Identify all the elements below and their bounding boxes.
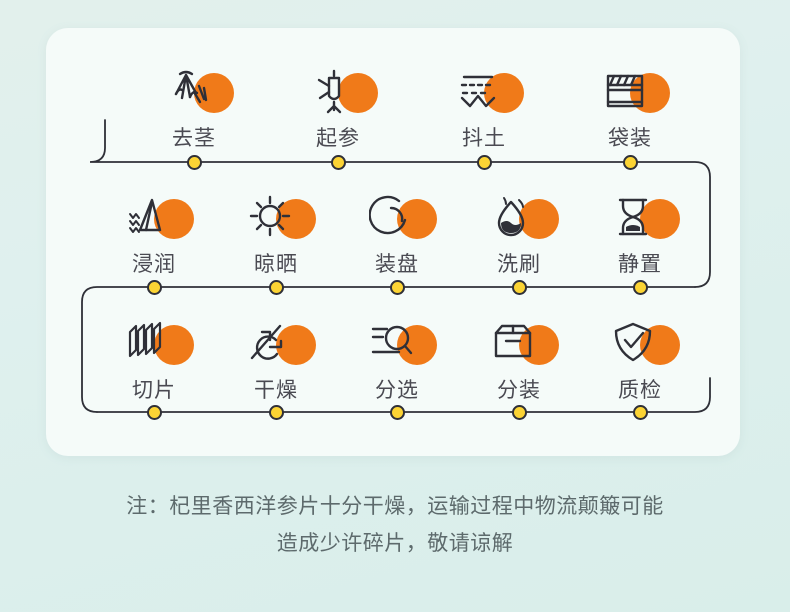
- step-label: 分选: [337, 378, 457, 404]
- flow-node-dot: [623, 155, 638, 170]
- flow-node-dot: [512, 280, 527, 295]
- step-label: 袋装: [570, 126, 690, 152]
- flow-node-dot: [390, 405, 405, 420]
- step-sorting-inspect[interactable]: 分选: [337, 314, 457, 404]
- step-rest-hourglass[interactable]: 静置: [580, 188, 700, 278]
- sun-dry-icon: [216, 188, 336, 250]
- quality-check-shield-icon: [580, 314, 700, 376]
- step-icon-wrap: [570, 62, 690, 124]
- step-label: 切片: [94, 378, 214, 404]
- step-label: 装盘: [337, 252, 457, 278]
- step-quality-check[interactable]: 质检: [580, 314, 700, 404]
- step-drying[interactable]: 干燥: [216, 314, 336, 404]
- step-label: 分装: [459, 378, 579, 404]
- step-packing-box[interactable]: 分装: [459, 314, 579, 404]
- flow-node-dot: [187, 155, 202, 170]
- step-sun-dry[interactable]: 晾晒: [216, 188, 336, 278]
- bagging-icon: [570, 62, 690, 124]
- step-label: 去茎: [134, 126, 254, 152]
- step-icon-wrap: [459, 314, 579, 376]
- step-wash-scrub[interactable]: 洗刷: [459, 188, 579, 278]
- footer-note-line-2: 造成少许碎片，敬请谅解: [50, 525, 740, 562]
- slicing-icon: [94, 314, 214, 376]
- flow-node-dot: [633, 405, 648, 420]
- harvest-ginseng-icon: [278, 62, 398, 124]
- shake-soil-icon: [424, 62, 544, 124]
- step-label: 抖土: [424, 126, 544, 152]
- packing-box-icon: [459, 314, 579, 376]
- infographic-page: 去茎 起参: [0, 0, 790, 612]
- rest-hourglass-icon: [580, 188, 700, 250]
- soak-icon: [94, 188, 214, 250]
- step-icon-wrap: [424, 62, 544, 124]
- step-slicing[interactable]: 切片: [94, 314, 214, 404]
- step-icon-wrap: [459, 188, 579, 250]
- tray-plating-icon: [337, 188, 457, 250]
- step-label: 静置: [580, 252, 700, 278]
- drying-icon: [216, 314, 336, 376]
- step-label: 起参: [278, 126, 398, 152]
- step-label: 晾晒: [216, 252, 336, 278]
- step-bagging[interactable]: 袋装: [570, 62, 690, 152]
- step-icon-wrap: [580, 188, 700, 250]
- step-icon-wrap: [216, 188, 336, 250]
- step-label: 干燥: [216, 378, 336, 404]
- step-label: 浸润: [94, 252, 214, 278]
- flow-node-dot: [269, 405, 284, 420]
- flow-node-dot: [147, 280, 162, 295]
- flow-node-dot: [147, 405, 162, 420]
- step-label: 质检: [580, 378, 700, 404]
- flow-node-dot: [390, 280, 405, 295]
- step-icon-wrap: [216, 314, 336, 376]
- step-shake-soil[interactable]: 抖土: [424, 62, 544, 152]
- flow-node-dot: [477, 155, 492, 170]
- step-icon-wrap: [134, 62, 254, 124]
- remove-stem-icon: [134, 62, 254, 124]
- flow-node-dot: [331, 155, 346, 170]
- sorting-inspect-icon: [337, 314, 457, 376]
- step-icon-wrap: [580, 314, 700, 376]
- step-label: 洗刷: [459, 252, 579, 278]
- step-icon-wrap: [278, 62, 398, 124]
- flow-node-dot: [269, 280, 284, 295]
- step-soak[interactable]: 浸润: [94, 188, 214, 278]
- step-remove-stem[interactable]: 去茎: [134, 62, 254, 152]
- step-tray-plating[interactable]: 装盘: [337, 188, 457, 278]
- flow-node-dot: [512, 405, 527, 420]
- footer-note: 注：杞里香西洋参片十分干燥，运输过程中物流颠簸可能 造成少许碎片，敬请谅解: [50, 488, 740, 562]
- step-icon-wrap: [94, 314, 214, 376]
- footer-note-line-1: 注：杞里香西洋参片十分干燥，运输过程中物流颠簸可能: [50, 488, 740, 525]
- step-icon-wrap: [94, 188, 214, 250]
- step-icon-wrap: [337, 314, 457, 376]
- wash-scrub-icon: [459, 188, 579, 250]
- flow-node-dot: [633, 280, 648, 295]
- step-harvest-ginseng[interactable]: 起参: [278, 62, 398, 152]
- step-icon-wrap: [337, 188, 457, 250]
